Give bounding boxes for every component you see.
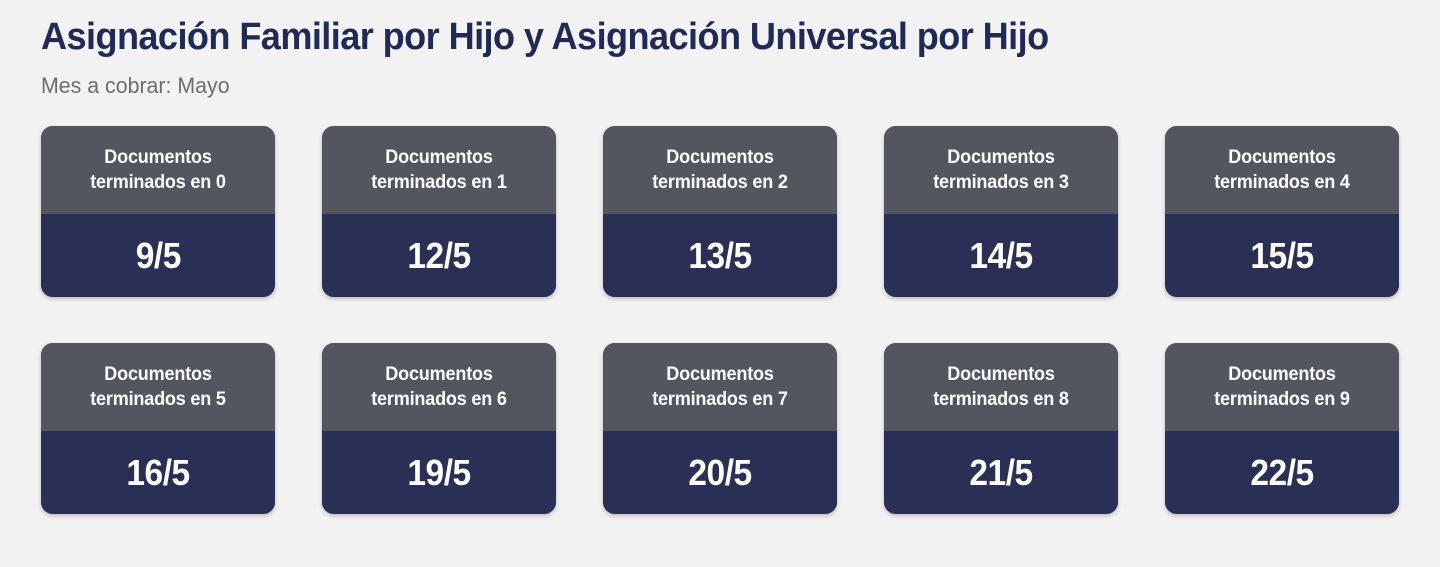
schedule-card-grid: Documentos terminados en 0 9/5 Documento… bbox=[0, 126, 1440, 514]
schedule-card-date: 22/5 bbox=[1250, 453, 1313, 493]
schedule-card-date: 9/5 bbox=[135, 236, 180, 276]
schedule-card-row: Documentos terminados en 0 9/5 Documento… bbox=[41, 126, 1399, 297]
schedule-card-date: 16/5 bbox=[126, 453, 189, 493]
schedule-card[interactable]: Documentos terminados en 2 13/5 bbox=[603, 126, 837, 297]
schedule-card[interactable]: Documentos terminados en 6 19/5 bbox=[322, 343, 556, 514]
schedule-card-body: 19/5 bbox=[322, 431, 556, 514]
schedule-card[interactable]: Documentos terminados en 7 20/5 bbox=[603, 343, 837, 514]
schedule-card[interactable]: Documentos terminados en 4 15/5 bbox=[1165, 126, 1399, 297]
schedule-card-date: 13/5 bbox=[688, 236, 751, 276]
schedule-card[interactable]: Documentos terminados en 1 12/5 bbox=[322, 126, 556, 297]
schedule-card-body: 12/5 bbox=[322, 214, 556, 297]
schedule-card-label: Documentos terminados en 9 bbox=[1180, 362, 1383, 412]
schedule-card-label: Documentos terminados en 5 bbox=[56, 362, 259, 412]
schedule-card-header: Documentos terminados en 1 bbox=[322, 126, 556, 214]
schedule-card-header: Documentos terminados en 7 bbox=[603, 343, 837, 431]
schedule-card[interactable]: Documentos terminados en 9 22/5 bbox=[1165, 343, 1399, 514]
schedule-card[interactable]: Documentos terminados en 3 14/5 bbox=[884, 126, 1118, 297]
schedule-card-body: 20/5 bbox=[603, 431, 837, 514]
schedule-card-date: 19/5 bbox=[407, 453, 470, 493]
schedule-card-label: Documentos terminados en 4 bbox=[1180, 145, 1383, 195]
page-title: Asignación Familiar por Hijo y Asignació… bbox=[41, 14, 1370, 60]
schedule-card-header: Documentos terminados en 9 bbox=[1165, 343, 1399, 431]
schedule-card-header: Documentos terminados en 8 bbox=[884, 343, 1118, 431]
schedule-card-label: Documentos terminados en 3 bbox=[899, 145, 1102, 195]
schedule-card-label: Documentos terminados en 1 bbox=[337, 145, 540, 195]
schedule-card-body: 9/5 bbox=[41, 214, 275, 297]
schedule-card-body: 21/5 bbox=[884, 431, 1118, 514]
schedule-card-label: Documentos terminados en 0 bbox=[56, 145, 259, 195]
schedule-card-date: 21/5 bbox=[969, 453, 1032, 493]
schedule-card-label: Documentos terminados en 7 bbox=[618, 362, 821, 412]
schedule-card-date: 15/5 bbox=[1250, 236, 1313, 276]
schedule-card-label: Documentos terminados en 8 bbox=[899, 362, 1102, 412]
schedule-card-body: 22/5 bbox=[1165, 431, 1399, 514]
schedule-card[interactable]: Documentos terminados en 5 16/5 bbox=[41, 343, 275, 514]
schedule-card-label: Documentos terminados en 6 bbox=[337, 362, 540, 412]
schedule-card-header: Documentos terminados en 0 bbox=[41, 126, 275, 214]
schedule-card-date: 20/5 bbox=[688, 453, 751, 493]
schedule-card-header: Documentos terminados en 2 bbox=[603, 126, 837, 214]
schedule-card[interactable]: Documentos terminados en 0 9/5 bbox=[41, 126, 275, 297]
schedule-card-date: 12/5 bbox=[407, 236, 470, 276]
schedule-card-body: 14/5 bbox=[884, 214, 1118, 297]
schedule-card-row: Documentos terminados en 5 16/5 Document… bbox=[41, 343, 1399, 514]
schedule-card-body: 13/5 bbox=[603, 214, 837, 297]
schedule-card-date: 14/5 bbox=[969, 236, 1032, 276]
page-header: Asignación Familiar por Hijo y Asignació… bbox=[0, 0, 1440, 100]
schedule-card-header: Documentos terminados en 6 bbox=[322, 343, 556, 431]
payment-month-subtitle: Mes a cobrar: Mayo bbox=[41, 72, 1398, 100]
schedule-card[interactable]: Documentos terminados en 8 21/5 bbox=[884, 343, 1118, 514]
schedule-card-header: Documentos terminados en 3 bbox=[884, 126, 1118, 214]
schedule-card-header: Documentos terminados en 5 bbox=[41, 343, 275, 431]
payment-schedule-page: Asignación Familiar por Hijo y Asignació… bbox=[0, 0, 1440, 567]
schedule-card-body: 15/5 bbox=[1165, 214, 1399, 297]
schedule-card-header: Documentos terminados en 4 bbox=[1165, 126, 1399, 214]
schedule-card-label: Documentos terminados en 2 bbox=[618, 145, 821, 195]
schedule-card-body: 16/5 bbox=[41, 431, 275, 514]
